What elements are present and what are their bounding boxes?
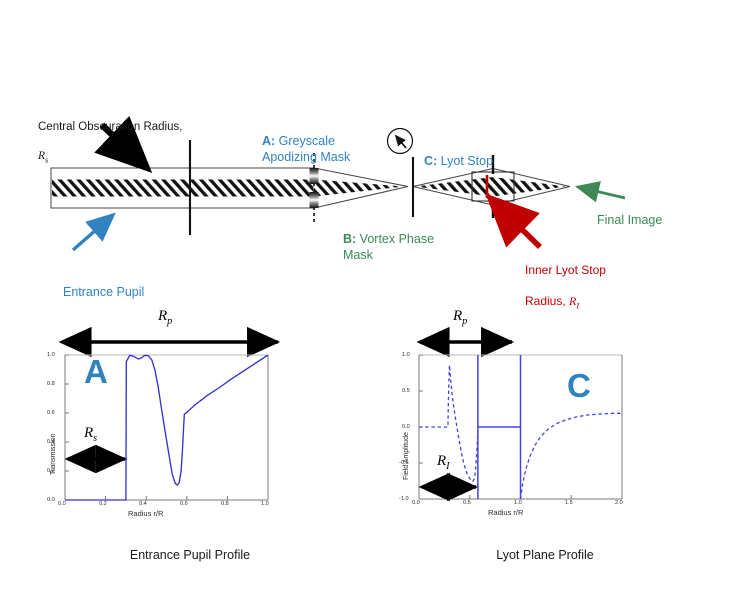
vortex-spiral-icon [388, 129, 413, 154]
chart-a-ytick-3: 0.6 [47, 410, 55, 416]
chart-c-xtick-1: 0.5 [463, 500, 471, 506]
chart-a-xlabel: Radius r/R [128, 509, 163, 518]
entrance-pupil-arrow [73, 215, 113, 250]
rp-annotation-c: Rp [453, 308, 467, 327]
mask-c-label: C: Lyot Stop [424, 137, 493, 169]
chart-c-ytick-3: 0.5 [402, 388, 410, 394]
chart-a-ytick-5: 1.0 [47, 352, 55, 358]
central-obscuration-label: Central Obscuration Radius, Rs [38, 105, 182, 166]
chart-a-xtick-4: 0.8 [221, 501, 229, 507]
chart-c-xtick-3: 1.5 [565, 500, 573, 506]
chart-c-xtick-0: 0.0 [412, 500, 420, 506]
chart-a-svg [40, 315, 340, 530]
chart-c-xlabel: Radius r/R [488, 508, 523, 517]
chart-lyot-plane-profile: Rp RI C Field Amplitude Radius r/R 0.0 0… [395, 315, 695, 530]
mask-a-label: A: Greyscale Apodizing Mask [262, 117, 350, 165]
chart-entrance-pupil-profile: Rp Rs A Transmission Radius r/R 0.0 0.2 … [40, 315, 340, 530]
final-image-label: Final Image [597, 196, 662, 228]
chart-a-letter: A [84, 353, 108, 391]
chart-c-ytick-1: -0.5 [399, 460, 409, 466]
rp-annotation-a: Rp [158, 308, 172, 327]
chart-a-xtick-2: 0.4 [139, 501, 147, 507]
chart-a-xtick-3: 0.6 [180, 501, 188, 507]
chart-a-ytick-4: 0.8 [47, 381, 55, 387]
mask-b-label: B: Vortex Phase Mask [343, 215, 434, 263]
inner-lyot-stop-label: Inner Lyot Stop Radius, RI [525, 248, 606, 312]
chart-c-ylabel: Field Amplitude [403, 432, 410, 480]
ri-annotation-c: RI [437, 453, 450, 472]
chart-c-xtick-4: 2.0 [615, 500, 623, 506]
chart-a-ytick-2: 0.4 [47, 439, 55, 445]
inner-lyot-arrow [491, 199, 540, 247]
chart-c-xtick-2: 1.0 [514, 500, 522, 506]
chart-a-ytick-0: 0.0 [47, 497, 55, 503]
chart-a-ytick-1: 0.2 [47, 468, 55, 474]
caption-entrance-pupil: Entrance Pupil Profile [60, 548, 320, 562]
rs-annotation-a: Rs [84, 425, 97, 444]
chart-c-letter: C [567, 367, 591, 405]
chart-c-ytick-2: 0.0 [402, 424, 410, 430]
chart-a-yticks [65, 355, 69, 500]
chart-c-lyot-stop-solid [478, 355, 521, 499]
entrance-pupil-label: Entrance Pupil [63, 268, 144, 300]
chart-c-svg [395, 315, 695, 530]
chart-a-xtick-5: 1.0 [261, 501, 269, 507]
chart-a-xtick-1: 0.2 [99, 501, 107, 507]
chart-c-ytick-4: 1.0 [402, 352, 410, 358]
converging-beam-1 [314, 168, 408, 208]
caption-lyot-plane: Lyot Plane Profile [410, 548, 680, 562]
chart-a-xtick-0: 0.0 [58, 501, 66, 507]
chart-c-curve-right [521, 413, 623, 499]
chart-c-ytick-0: -1.0 [399, 496, 409, 502]
collimated-beam [51, 168, 314, 208]
